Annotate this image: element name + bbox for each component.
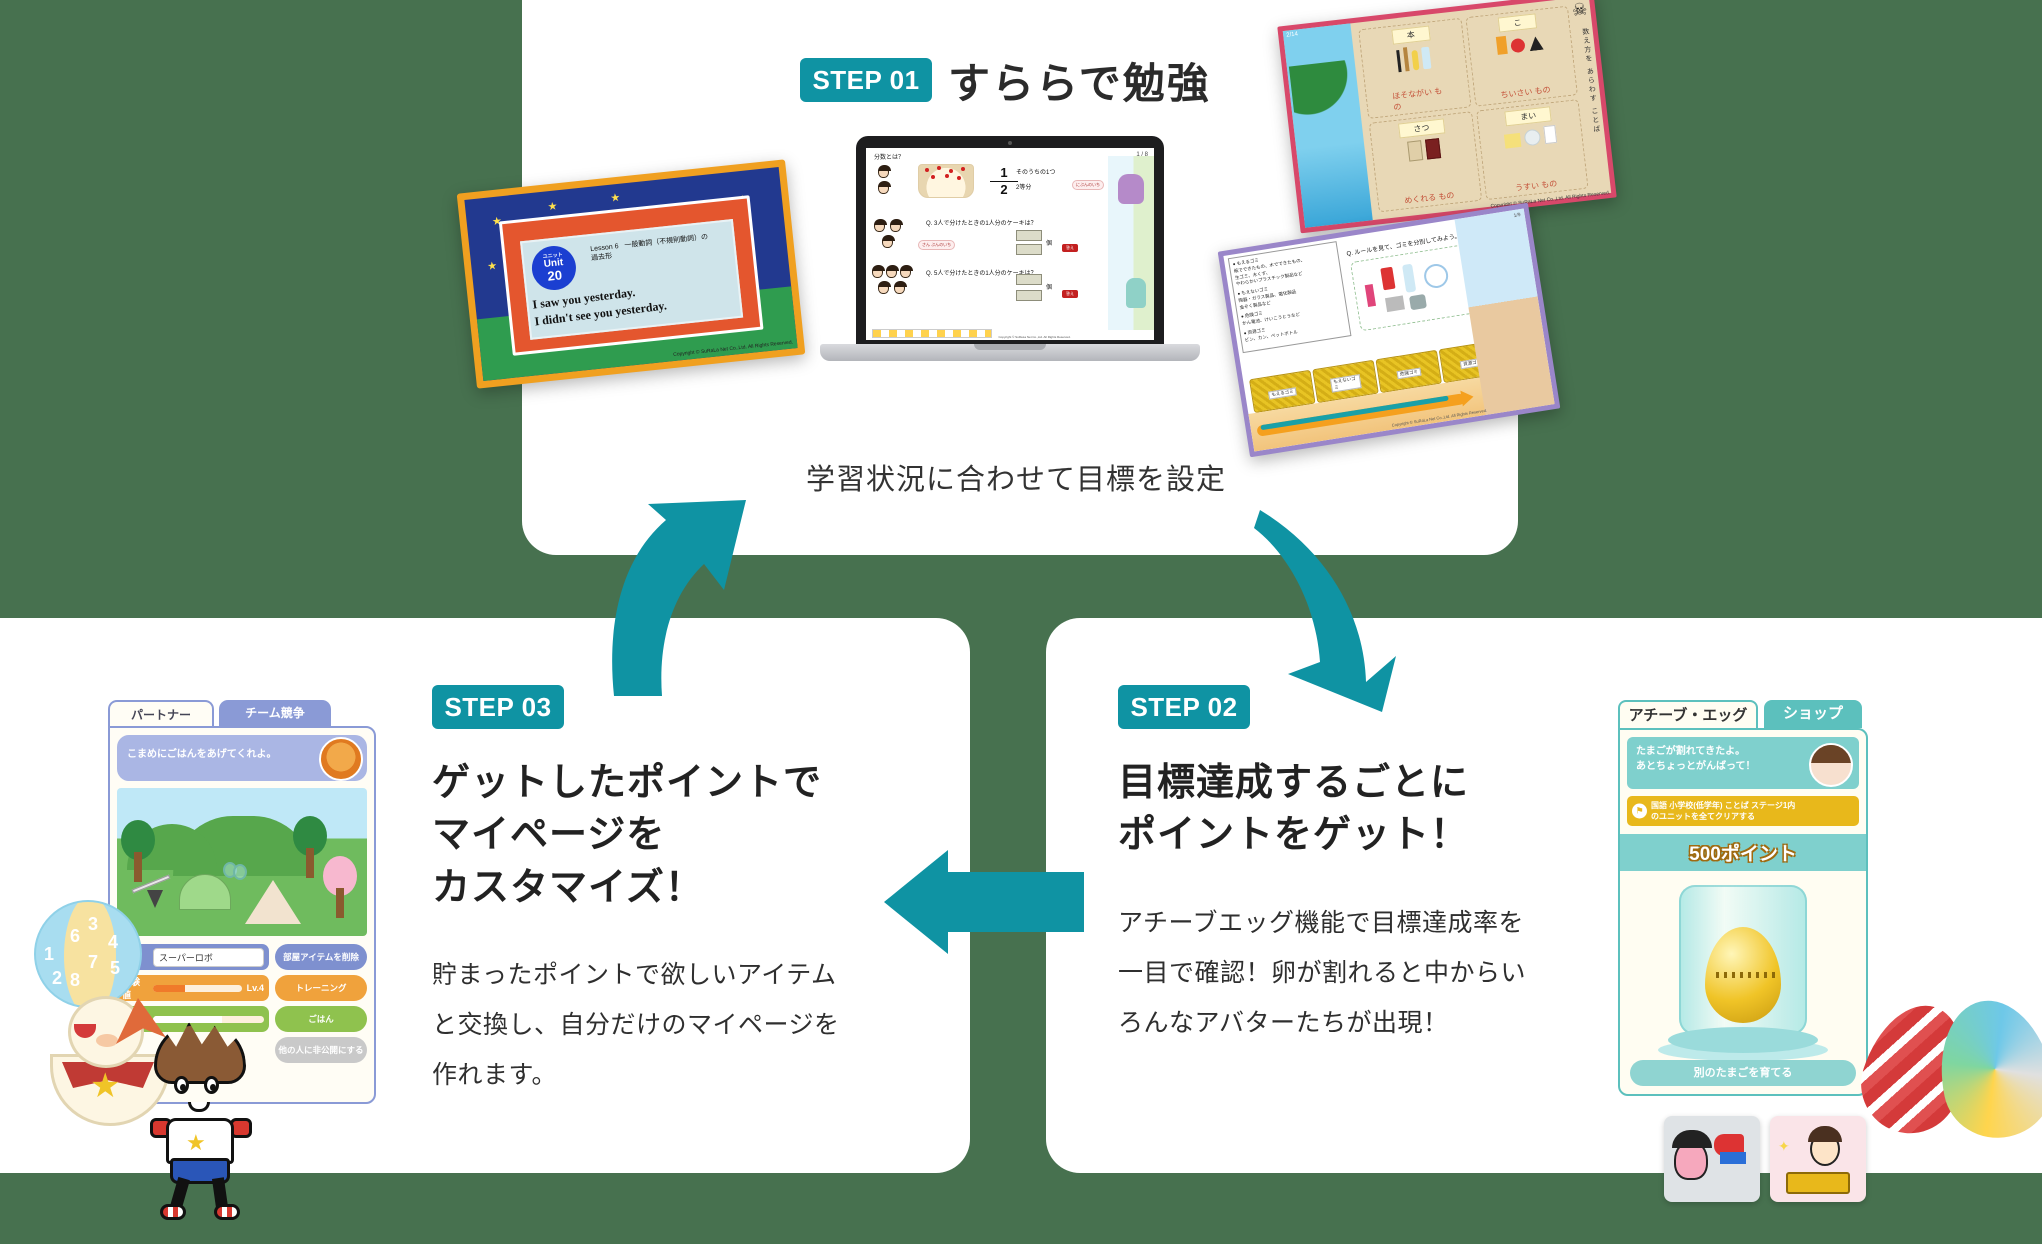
student-character (1126, 278, 1146, 308)
page-indicator: 1/9 (1513, 212, 1521, 219)
arrow-up-curved-icon (596, 498, 766, 698)
counter-word: さつ (1398, 118, 1445, 138)
answer-box-1b[interactable] (1016, 244, 1042, 255)
tab-team-competition[interactable]: チーム競争 (219, 700, 331, 726)
ball-number: 5 (110, 958, 120, 979)
counter-cell[interactable]: まい うすい もの (1476, 99, 1589, 200)
answer-button-2[interactable]: 答え (1062, 290, 1078, 298)
wizard-character (1118, 174, 1144, 204)
tab-achieve-egg[interactable]: アチーブ・エッグ (1618, 700, 1758, 728)
boy-character-icon: ★ (138, 1022, 266, 1182)
counter-objects (1396, 45, 1432, 73)
ball-number: 1 (44, 944, 54, 965)
tab-partner[interactable]: パートナー (108, 700, 214, 726)
copyright-note: Copyright © SuRaLa Net Co.,Ltd. All Righ… (998, 335, 1070, 339)
achieve-egg-screenshot: アチーブ・エッグ ショップ たまごが割れてきたよ。 あとちょっとがんばって！ ⚑… (1618, 700, 1868, 1100)
flag-icon: ⚑ (1632, 804, 1647, 819)
page-indicator: 2/14 (1286, 31, 1298, 38)
laptop-screen: 分数とは？ 1 / 8 1 2 そのうちの1つ 2等分 (866, 148, 1154, 340)
ball-number: 2 (52, 968, 62, 989)
counter-word: まい (1505, 106, 1552, 126)
progress-strip[interactable] (872, 329, 992, 338)
ball-number: 3 (88, 914, 98, 935)
counter-grid: 本 ほそながい もの こ ちいさい (1350, 0, 1611, 220)
avatar-thumbnails: ✦ (1664, 1116, 1866, 1202)
step-02-body: アチーブエッグ機能で目標達成率を 一目で確認！卵が割れると中からい ろんなアバタ… (1118, 898, 1588, 1048)
counter-word: こ (1498, 13, 1537, 32)
counter-2: 個 (1046, 282, 1052, 291)
egg-goal-banner: ⚑ 国語 小学校(低学年) ことば ステージ1内 のユニットを全てクリアする (1627, 796, 1859, 826)
step-02-badge: STEP 02 (1118, 685, 1250, 729)
pet-speech-bubble: こまめにごはんをあげてくれよ。 (117, 735, 367, 781)
counter-label: ほそながい もの (1392, 85, 1445, 113)
privacy-toggle-button[interactable]: 他の人に非公開にする (275, 1037, 367, 1063)
rules-box: ● もえるゴミ 紙でできたもの、木でできたもの、 生ゴミ、木くず、 やわらかいプ… (1228, 241, 1352, 353)
palm-tree (1289, 60, 1358, 166)
delete-room-item-button[interactable]: 部屋アイテムを削除 (275, 944, 367, 970)
tennis-racket-icon (223, 862, 249, 884)
pet-action-buttons: 部屋アイテムを削除 トレーニング ごはん 他の人に非公開にする (275, 944, 367, 1063)
mascot-group: 1 2 3 4 5 6 7 8 ★ ★ (20, 900, 250, 1160)
teacher-avatar (1809, 743, 1853, 787)
reading-pill-2[interactable]: さん ぶんのいち (918, 240, 955, 250)
fraction-denominator: 2 (990, 183, 1018, 197)
skull-icon: ☠ (1571, 0, 1588, 21)
egg-goal-text: 国語 小学校(低学年) ことば ステージ1内 のユニットを全てクリアする (1651, 801, 1795, 821)
counter-label: ちいさい もの (1500, 84, 1551, 101)
pirate-counter-card: 2/14 本 ほそながい もの こ (1277, 0, 1617, 233)
achieve-egg-tabs: アチーブ・エッグ ショップ (1618, 700, 1868, 728)
tree-icon (293, 816, 327, 876)
step-03-body: 貯まったポイントで欲しいアイテム と交換し、自分だけのマイページを 作れます。 (432, 950, 902, 1100)
raise-another-egg-button[interactable]: 別のたまごを育てる (1630, 1060, 1856, 1086)
egg-points-label: 500ポイント (1620, 834, 1866, 871)
egg-stage (1620, 871, 1866, 1071)
counter-word: 本 (1391, 25, 1430, 44)
pet-avatar[interactable] (319, 737, 363, 781)
training-button[interactable]: トレーニング (275, 975, 367, 1001)
trash-card-screen: ● もえるゴミ 紙でできたもの、木でできたもの、 生ゴミ、木くず、 やわらかいプ… (1223, 208, 1554, 451)
avatar-thumb-treasure[interactable]: ✦ (1770, 1116, 1866, 1202)
counter-1: 個 (1046, 238, 1052, 247)
laptop-notch (974, 344, 1046, 350)
numerator-note: そのうちの1つ (1016, 167, 1055, 176)
answer-box-2a[interactable] (1016, 274, 1042, 285)
step-02-text-block: STEP 02 目標達成するごとに ポイントをゲット！ アチーブエッグ機能で目標… (1118, 685, 1588, 1048)
answer-button-1[interactable]: 答え (1062, 244, 1078, 252)
answer-box-1a[interactable] (1016, 230, 1042, 241)
lesson-number: Lesson 6 (590, 243, 619, 253)
counter-cell[interactable]: さつ めくれる もの (1369, 111, 1482, 212)
arrow-left-icon (884, 846, 1084, 956)
ball-number: 8 (70, 970, 80, 991)
mypage-tabs: パートナー チーム競争 (108, 700, 376, 726)
side-characters-panel (1108, 156, 1154, 330)
counter-cell[interactable]: 本 ほそながい もの (1358, 18, 1471, 119)
cake-illustration (918, 164, 974, 198)
egg-message-box: たまごが割れてきたよ。 あとちょっとがんばって！ (1627, 737, 1859, 789)
egg-base-inner (1668, 1027, 1818, 1053)
answer-box-2b[interactable] (1016, 290, 1042, 301)
infographic-stage: STEP 01 すららで勉強 学習状況に合わせて目標を設定 ★ ★ ★ ★ ★ … (0, 0, 2042, 1244)
counter-label: うすい もの (1515, 178, 1558, 194)
english-lesson-screen: ★ ★ ★ ★ ★ ユニット Unit 20 Lesson 6 一般動詞（不規則… (464, 167, 797, 381)
basket-label: 危険ゴミ (1396, 367, 1421, 379)
step-03-text-block: STEP 03 ゲットしたポイントで マイページを カスタマイズ！ 貯まったポイ… (432, 685, 902, 1100)
reading-pill-1[interactable]: にぶんのいち (1072, 180, 1104, 190)
step-03-badge: STEP 03 (432, 685, 564, 729)
counter-objects (1504, 125, 1558, 149)
webcam-icon (1008, 141, 1012, 145)
tree-icon (121, 820, 155, 880)
avatar-thumb-pirate[interactable] (1664, 1116, 1760, 1202)
counter-objects (1407, 138, 1441, 161)
english-lesson-card: ★ ★ ★ ★ ★ ユニット Unit 20 Lesson 6 一般動詞（不規則… (457, 159, 806, 388)
tab-shop[interactable]: ショップ (1764, 700, 1862, 728)
ball-number: 4 (108, 932, 118, 953)
ball-number: 7 (88, 952, 98, 973)
fraction-display: 1 2 (990, 166, 1018, 196)
question-1: Q. 3人で分けたときの1人分のケーキは？ (926, 218, 1037, 227)
counter-objects (1496, 32, 1544, 55)
fraction-numerator: 1 (990, 166, 1018, 180)
sakura-tree-icon (323, 856, 357, 916)
counter-cell[interactable]: こ ちいさい もの (1465, 6, 1578, 107)
step-03-heading: ゲットしたポイントで マイページを カスタマイズ！ (432, 757, 902, 914)
counter-label: めくれる もの (1404, 190, 1455, 207)
step-01-badge: STEP 01 (800, 58, 932, 102)
laptop-lid: 分数とは？ 1 / 8 1 2 そのうちの1つ 2等分 (856, 136, 1164, 350)
step-01-caption: 学習状況に合わせて目標を設定 (806, 456, 1226, 498)
tent-icon (245, 880, 301, 924)
step-02-heading: 目標達成するごとに ポイントをゲット！ (1118, 757, 1588, 862)
step-01-title: すららで勉強 (948, 50, 1211, 111)
basket-label: もえるゴミ (1268, 387, 1297, 399)
denominator-note: 2等分 (1016, 182, 1031, 191)
feed-button[interactable]: ごはん (275, 1006, 367, 1032)
lesson-title: 分数とは？ (874, 152, 904, 161)
basket-label: もえないゴミ (1330, 374, 1362, 393)
achieve-egg-body: たまごが割れてきたよ。 あとちょっとがんばって！ ⚑ 国語 小学校(低学年) こ… (1618, 728, 1868, 1096)
laptop-device: 分数とは？ 1 / 8 1 2 そのうちの1つ 2等分 (820, 136, 1200, 388)
pirate-card-screen: 2/14 本 ほそながい もの こ (1283, 0, 1611, 228)
ball-number: 6 (70, 926, 80, 947)
